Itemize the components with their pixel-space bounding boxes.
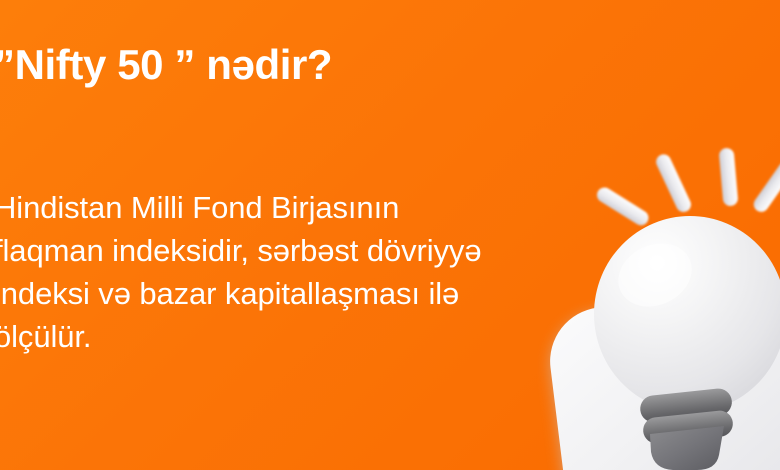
slide-canvas: ”Nifty 50 ” nədir? Hindistan Milli Fond …	[0, 0, 780, 470]
light-ray-1	[594, 185, 651, 228]
lightbulb-metal-base	[639, 387, 734, 470]
body-line: flaqman indeksidir, sərbəst dövriyyə	[0, 229, 594, 272]
light-rays	[594, 148, 780, 229]
light-ray-3	[719, 148, 739, 207]
light-ray-4	[751, 159, 780, 215]
body-line: Hindistan Milli Fond Birjasının	[0, 186, 594, 229]
page-title: ”Nifty 50 ” nədir?	[0, 42, 332, 87]
body-paragraph: Hindistan Milli Fond Birjasının flaqman …	[0, 186, 594, 358]
light-ray-2	[654, 152, 694, 215]
lightbulb-body	[594, 216, 780, 416]
body-line: ölçülür.	[0, 315, 594, 358]
body-line: indeksi və bazar kapitallaşması ilə	[0, 272, 594, 315]
